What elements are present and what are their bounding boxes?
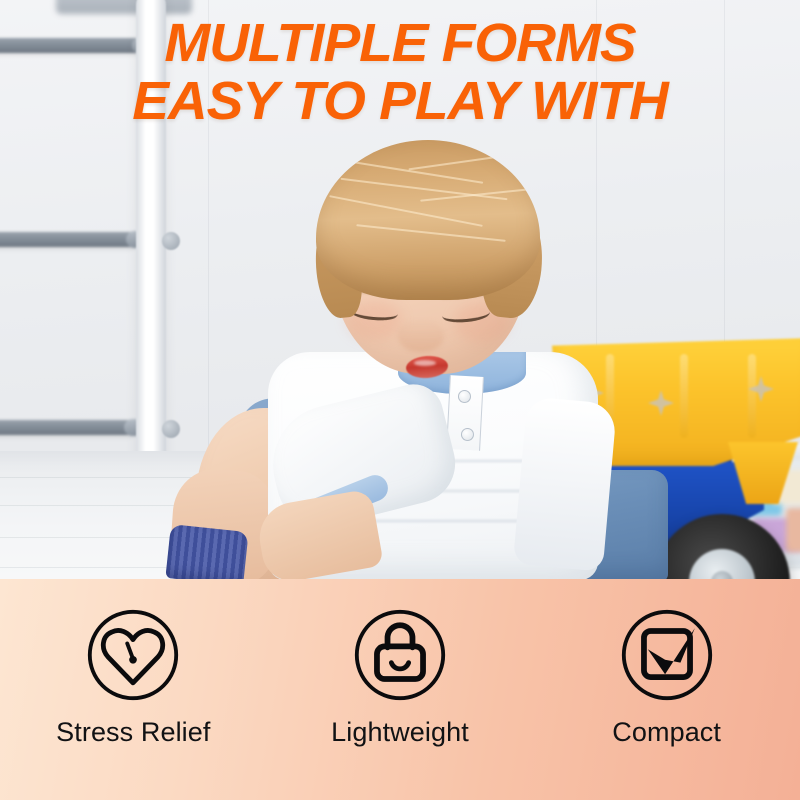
truck-bed-rib <box>680 354 688 438</box>
shirt-button <box>461 428 474 441</box>
feature-stress-relief: Stress Relief <box>0 579 267 748</box>
feature-label-stress-relief: Stress Relief <box>56 717 210 748</box>
truck-wheel-hub <box>689 549 755 579</box>
ladder-rung <box>0 38 144 53</box>
shirt-button <box>458 390 471 403</box>
checkbox-check-icon <box>619 607 715 703</box>
feature-compact: Compact <box>533 579 800 748</box>
heart-gauge-icon <box>85 607 181 703</box>
feature-label-compact: Compact <box>612 717 721 748</box>
ladder-knob <box>162 420 180 438</box>
ladder-rung <box>0 420 136 435</box>
child-sleeve-right <box>513 396 617 571</box>
ladder-knob <box>162 232 180 250</box>
bag-icon <box>352 607 448 703</box>
promo-banner: MULTIPLE FORMS EASY TO PLAY WITH Stress … <box>0 0 800 800</box>
hair-strand <box>329 195 483 227</box>
hair-strand <box>408 152 527 171</box>
product-lifestyle-photo <box>0 0 800 579</box>
child-mouth-highlight <box>414 360 436 366</box>
truck-bed-star <box>648 390 674 416</box>
child-nose <box>398 318 444 352</box>
feature-label-lightweight: Lightweight <box>331 717 469 748</box>
ladder-bracket <box>56 0 192 14</box>
ladder-rung <box>0 232 138 247</box>
child-hair <box>316 140 540 300</box>
feature-bar: Stress Relief Lightweight Compact <box>0 579 800 800</box>
child-sock <box>165 524 248 579</box>
truck-bed-rib <box>748 354 756 438</box>
feature-lightweight: Lightweight <box>267 579 534 748</box>
hair-strand <box>356 224 505 242</box>
